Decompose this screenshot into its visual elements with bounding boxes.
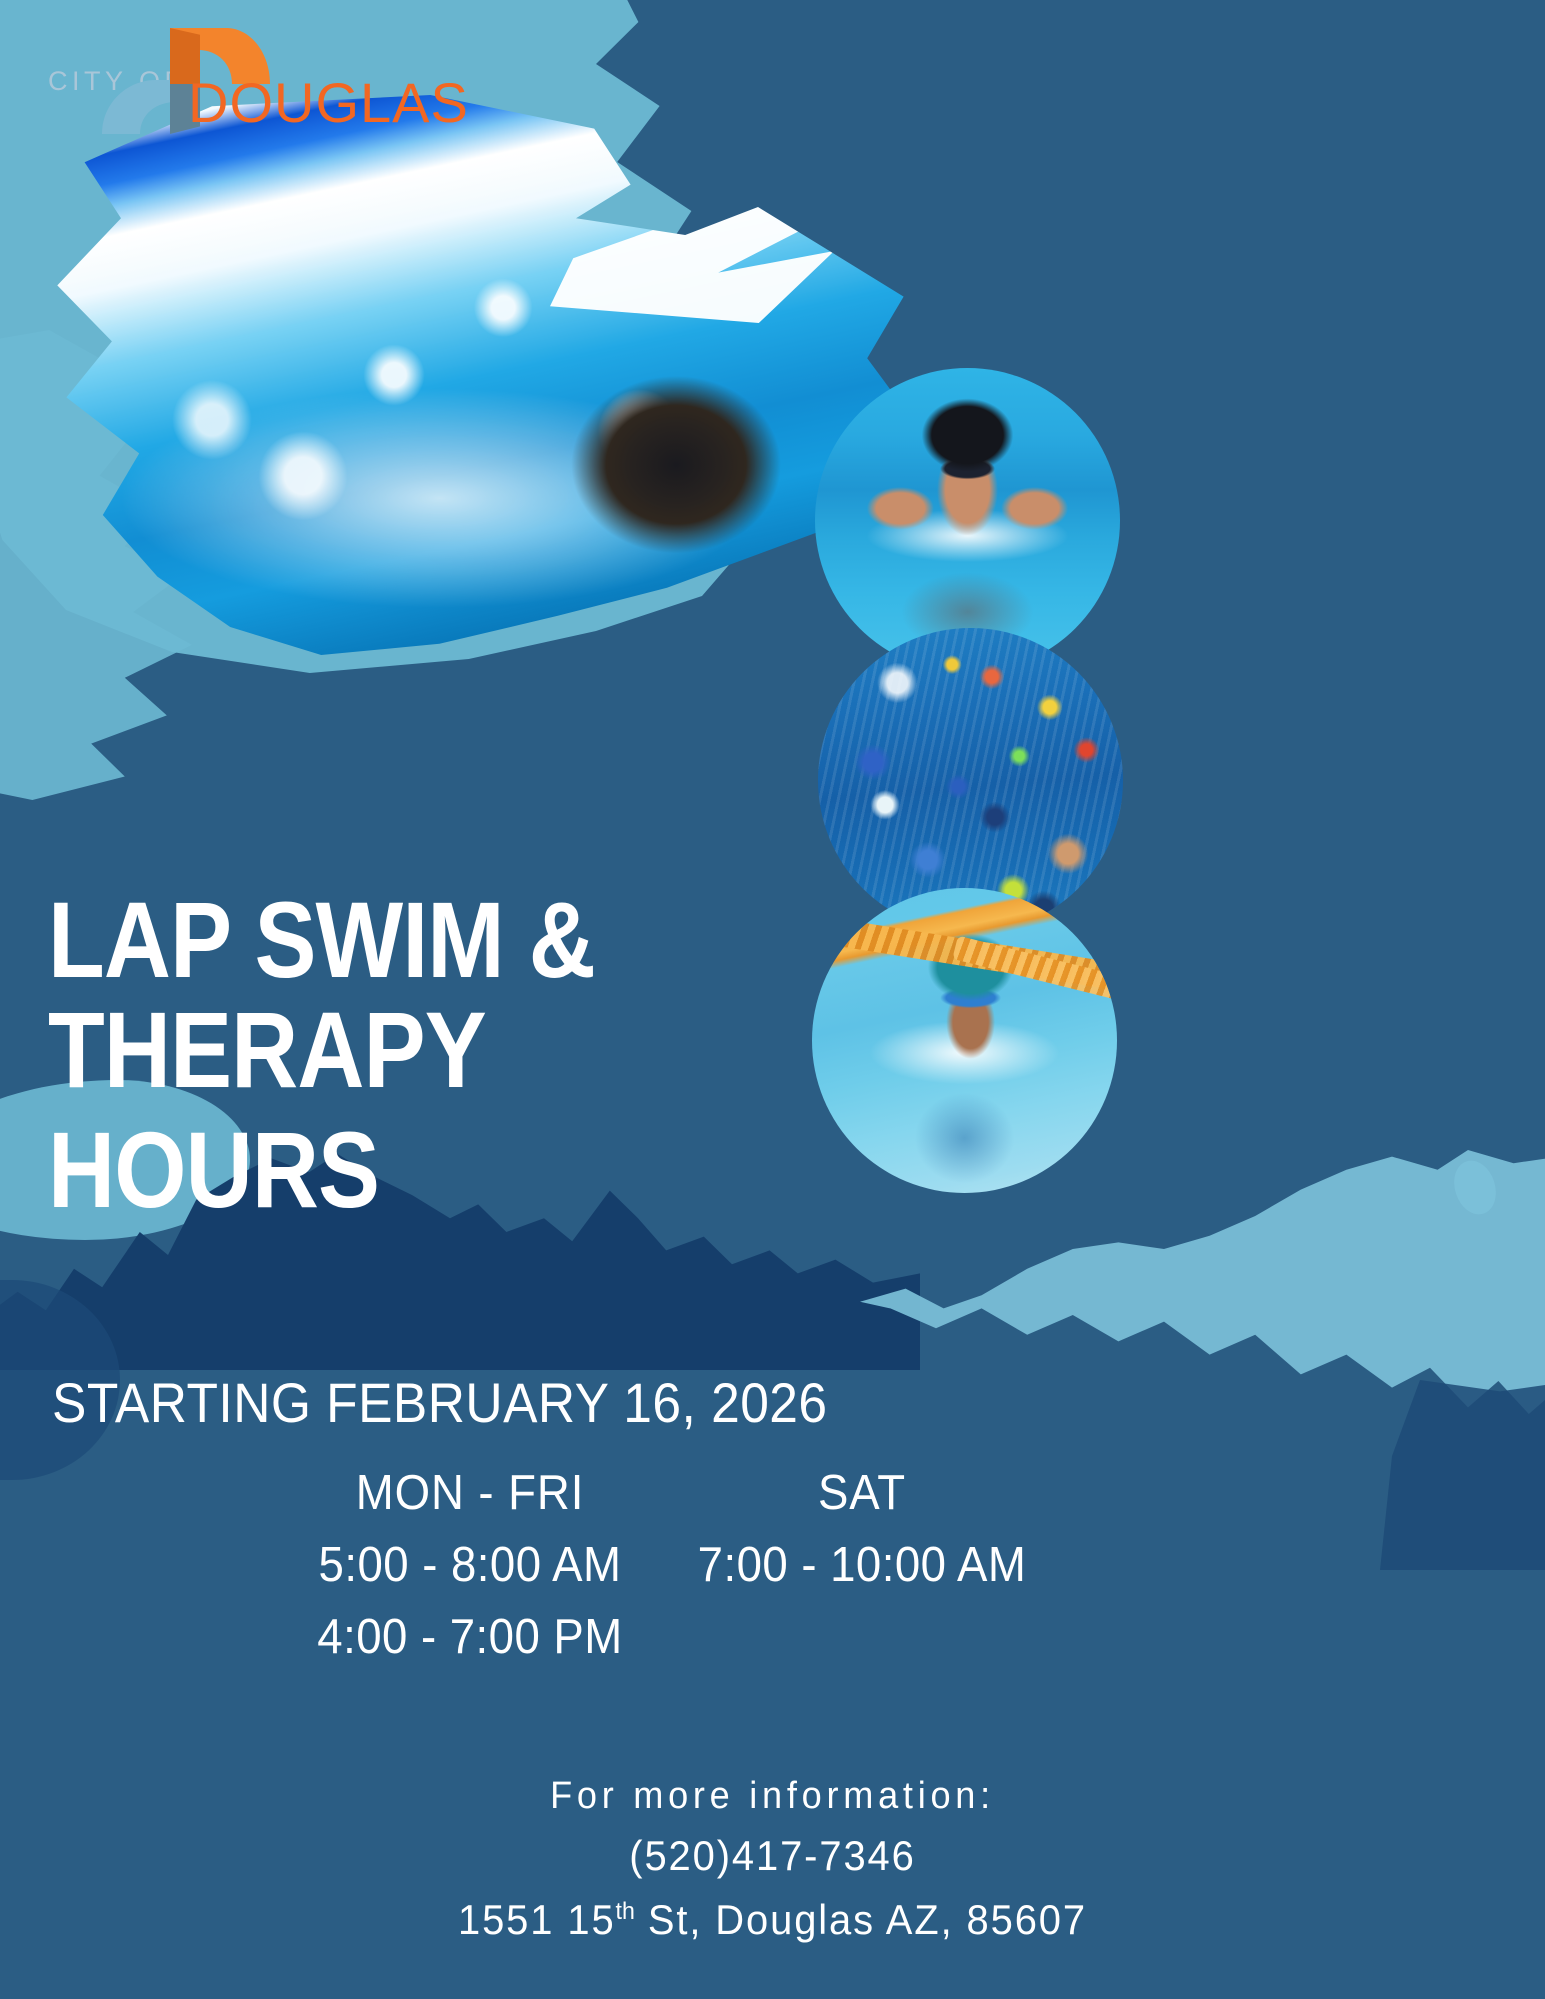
footer-address-prefix: 1551 15 xyxy=(458,1896,616,1943)
schedule-time-weekday-1: 5:00 - 8:00 AM xyxy=(303,1537,638,1593)
footer-contact-block: For more information: (520)417-7346 1551… xyxy=(0,1775,1545,1944)
headline-line-2: HOURS xyxy=(48,1115,908,1225)
schedule-table: MON - FRI 5:00 - 8:00 AM 4:00 - 7:00 PM … xyxy=(290,1465,1290,1665)
footer-address-suffix: St, Douglas AZ, 85607 xyxy=(635,1896,1087,1943)
schedule-spacer xyxy=(682,1609,1042,1658)
schedule-time-weekday-2: 4:00 - 7:00 PM xyxy=(303,1609,638,1665)
footer-info-label: For more information: xyxy=(39,1775,1507,1818)
logo-wordmark-text: DOUGLAS xyxy=(188,70,469,135)
footer-address-ordinal: th xyxy=(616,1898,635,1925)
footer-phone-number: (520)417-7346 xyxy=(39,1832,1507,1880)
schedule-column-saturday: SAT 7:00 - 10:00 AM xyxy=(682,1465,1042,1665)
headline-line-1: LAP SWIM & THERAPY xyxy=(48,879,595,1110)
footer-address: 1551 15th St, Douglas AZ, 85607 xyxy=(39,1896,1507,1944)
schedule-heading-saturday: SAT xyxy=(695,1465,1030,1521)
schedule-heading-weekday: MON - FRI xyxy=(303,1465,638,1521)
city-of-douglas-logo: CITY OF DOUGLAS xyxy=(40,20,420,135)
lane-rope-secondary-icon xyxy=(953,936,1117,1011)
starting-date-text: STARTING FEBRUARY 16, 2026 xyxy=(52,1370,828,1435)
schedule-column-weekday: MON - FRI 5:00 - 8:00 AM 4:00 - 7:00 PM xyxy=(290,1465,650,1665)
page-title: LAP SWIM & THERAPY HOURS xyxy=(48,885,908,1225)
schedule-time-saturday-1: 7:00 - 10:00 AM xyxy=(695,1537,1030,1593)
